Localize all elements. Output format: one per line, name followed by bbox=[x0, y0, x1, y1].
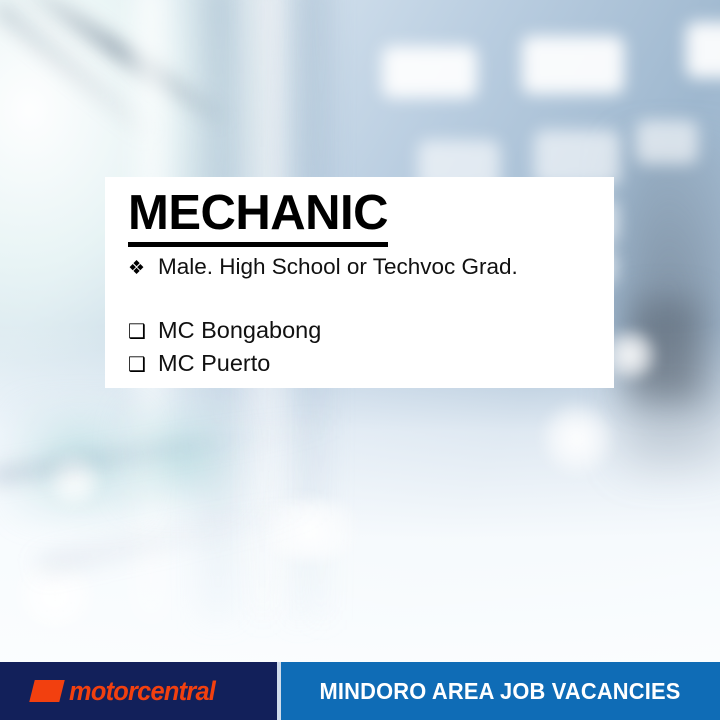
checkbox-bullet-icon: ❑ bbox=[128, 319, 158, 346]
branch-location-list: ❑ MC Bongabong ❑ MC Puerto bbox=[128, 314, 600, 379]
job-vacancy-poster: MECHANIC ❖ Male. High School or Techvoc … bbox=[0, 0, 720, 720]
diamond-bullet-icon: ❖ bbox=[128, 257, 158, 280]
headline-bar: MINDORO AREA JOB VACANCIES bbox=[281, 662, 720, 720]
page-title: MECHANIC bbox=[128, 189, 388, 247]
bottom-banner: motorcentral MINDORO AREA JOB VACANCIES bbox=[0, 662, 720, 720]
light-glow-3 bbox=[10, 560, 100, 630]
motorcentral-wordmark: motorcentral bbox=[69, 678, 215, 705]
brand-bar: motorcentral bbox=[0, 662, 277, 720]
requirement-text: Male. High School or Techvoc Grad. bbox=[158, 253, 518, 280]
checkbox-bullet-icon: ❑ bbox=[128, 352, 158, 379]
light-panel-10 bbox=[636, 120, 698, 164]
list-item: ❑ MC Puerto bbox=[128, 347, 600, 379]
job-info-card: MECHANIC ❖ Male. High School or Techvoc … bbox=[105, 177, 614, 388]
motorcentral-logo: motorcentral bbox=[32, 678, 224, 705]
light-glow-2 bbox=[540, 402, 614, 476]
motorcentral-logo-mark-icon bbox=[29, 680, 64, 702]
branch-name: MC Bongabong bbox=[158, 314, 321, 346]
branch-name: MC Puerto bbox=[158, 347, 270, 379]
list-item: ❑ MC Bongabong bbox=[128, 314, 600, 346]
requirement-item: ❖ Male. High School or Techvoc Grad. bbox=[128, 253, 600, 280]
light-panel-2 bbox=[522, 36, 624, 94]
banner-headline: MINDORO AREA JOB VACANCIES bbox=[320, 678, 681, 705]
light-panel-1 bbox=[382, 46, 477, 98]
light-panel-3 bbox=[686, 22, 720, 78]
page-title-row: MECHANIC bbox=[119, 189, 600, 247]
